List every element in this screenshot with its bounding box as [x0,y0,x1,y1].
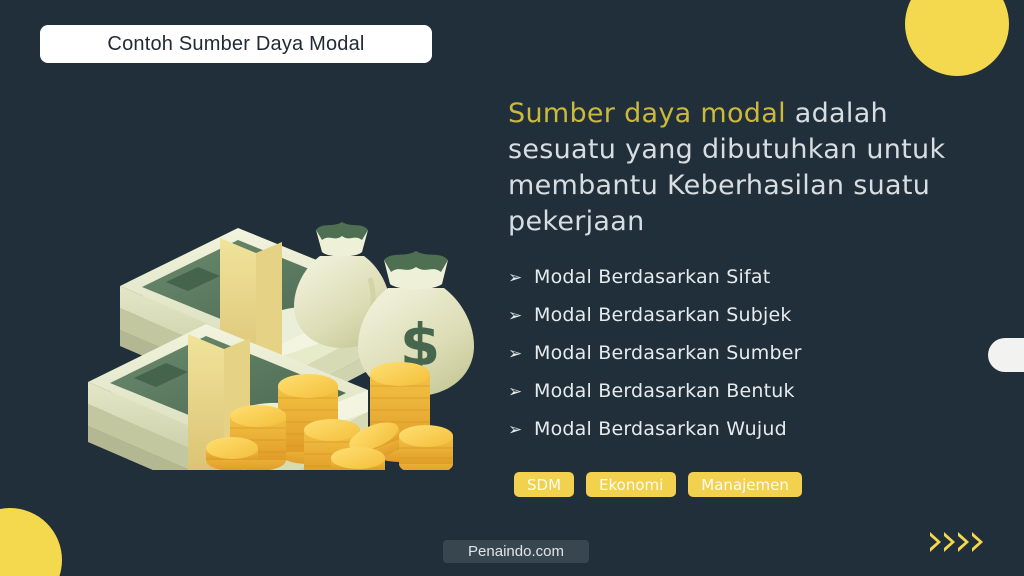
decor-chevrons [930,532,983,552]
content-column: Sumber daya modal adalah sesuatu yang di… [508,96,994,497]
coin-flat-pair [331,447,385,470]
coin-stack-e [399,425,453,470]
arrow-bullet-icon: ➢ [508,346,534,363]
chevron-right-icon [958,532,969,552]
tag-manajemen[interactable]: Manajemen [688,472,802,497]
list-item[interactable]: ➢ Modal Berdasarkan Wujud [508,418,994,456]
list-item-label: Modal Berdasarkan Wujud [534,418,787,440]
chevron-right-icon [930,532,941,552]
list-item[interactable]: ➢ Modal Berdasarkan Subjek [508,304,994,342]
headline-accent: Sumber daya modal [508,98,786,129]
list-item[interactable]: ➢ Modal Berdasarkan Sumber [508,342,994,380]
money-illustration: $ [70,160,490,470]
decor-circle-top-right [905,0,1009,76]
bullet-list: ➢ Modal Berdasarkan Sifat ➢ Modal Berdas… [508,266,994,456]
footer-label: Penaindo.com [468,543,564,560]
arrow-bullet-icon: ➢ [508,422,534,439]
headline: Sumber daya modal adalah sesuatu yang di… [508,96,994,240]
slide-title-banner: Contoh Sumber Daya Modal [40,25,432,63]
list-item-label: Modal Berdasarkan Subjek [534,304,792,326]
decor-circle-bottom-left [0,508,62,576]
chevron-right-icon [972,532,983,552]
list-item-label: Modal Berdasarkan Sumber [534,342,802,364]
arrow-bullet-icon: ➢ [508,270,534,287]
list-item-label: Modal Berdasarkan Bentuk [534,380,795,402]
chevron-right-icon [944,532,955,552]
arrow-bullet-icon: ➢ [508,384,534,401]
arrow-bullet-icon: ➢ [508,308,534,325]
list-item[interactable]: ➢ Modal Berdasarkan Sifat [508,266,994,304]
tag-row: SDM Ekonomi Manajemen [514,472,994,497]
tag-sdm[interactable]: SDM [514,472,574,497]
list-item-label: Modal Berdasarkan Sifat [534,266,770,288]
list-item[interactable]: ➢ Modal Berdasarkan Bentuk [508,380,994,418]
coin-stack-f [206,437,258,470]
slide-canvas: Contoh Sumber Daya Modal [0,0,1024,576]
footer-watermark: Penaindo.com [443,540,589,563]
page-title: Contoh Sumber Daya Modal [107,33,364,56]
tag-ekonomi[interactable]: Ekonomi [586,472,676,497]
